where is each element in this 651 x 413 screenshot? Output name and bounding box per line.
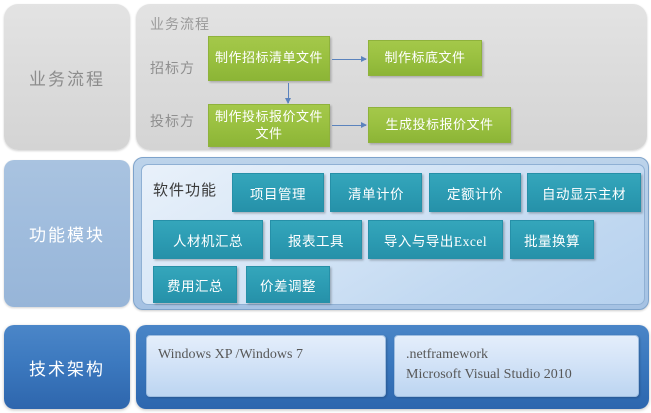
module-price-difference-adjustment[interactable]: 价差调整 (246, 266, 330, 303)
process-node-bid-quote-label: 制作投标报价文件文件 (209, 109, 329, 142)
functional-modules-panel: 软件功能 项目管理 清单计价 定额计价 自动显示主材 人材机汇总 报表工具 (133, 157, 649, 310)
module-auto-show-material[interactable]: 自动显示主材 (527, 173, 641, 212)
process-node-generate-quote[interactable]: 生成投标报价文件 (368, 107, 511, 143)
sidebar-item-business-process[interactable]: 业务流程 (4, 4, 130, 150)
process-node-generate-quote-label: 生成投标报价文件 (385, 117, 493, 133)
business-process-panel: 业务流程 招标方 投标方 制作招标清单文件 制作标底文件 制作投标报价文件文件 … (136, 4, 647, 150)
module-price-difference-adjustment-label: 价差调整 (260, 275, 316, 295)
module-labor-material-machine-summary[interactable]: 人材机汇总 (153, 220, 263, 259)
process-node-tender-list[interactable]: 制作招标清单文件 (208, 36, 330, 81)
module-bill-pricing[interactable]: 清单计价 (330, 173, 422, 212)
process-node-tender-list-label: 制作招标清单文件 (215, 50, 323, 66)
functional-modules-title: 软件功能 (153, 179, 217, 200)
process-node-bid-quote[interactable]: 制作投标报价文件文件 (208, 104, 330, 147)
module-cost-summary-label: 费用汇总 (167, 275, 223, 295)
arrow-bidquote-to-generate (332, 125, 366, 126)
module-quota-pricing[interactable]: 定额计价 (429, 173, 521, 212)
module-quota-pricing-label: 定额计价 (447, 183, 503, 203)
module-project-management[interactable]: 项目管理 (232, 173, 324, 212)
module-import-export-excel-label: 导入与导出Excel (384, 230, 487, 250)
module-auto-show-material-label: 自动显示主材 (542, 183, 626, 203)
module-labor-material-machine-summary-label: 人材机汇总 (173, 230, 243, 250)
sidebar-label-functional-modules: 功能模块 (29, 221, 105, 246)
sidebar-label-business-process: 业务流程 (29, 65, 105, 90)
tech-card-operating-system[interactable]: Windows XP /Windows 7 (146, 335, 386, 397)
module-project-management-label: 项目管理 (250, 183, 306, 203)
arrow-tenderlist-to-baseprice (332, 59, 366, 60)
sidebar-label-technical-architecture: 技术架构 (29, 355, 105, 380)
module-batch-conversion[interactable]: 批量换算 (510, 220, 594, 259)
module-report-tools[interactable]: 报表工具 (270, 220, 362, 259)
business-process-title: 业务流程 (150, 14, 210, 34)
tech-card-dev-line2: Microsoft Visual Studio 2010 (406, 365, 627, 385)
tech-card-os-line1: Windows XP /Windows 7 (158, 345, 374, 365)
row-label-tenderer: 招标方 (150, 58, 195, 78)
module-report-tools-label: 报表工具 (288, 230, 344, 250)
row-label-bidder: 投标方 (150, 111, 195, 131)
functional-modules-inner: 软件功能 项目管理 清单计价 定额计价 自动显示主材 人材机汇总 报表工具 (141, 164, 645, 305)
module-batch-conversion-label: 批量换算 (524, 230, 580, 250)
module-bill-pricing-label: 清单计价 (348, 183, 404, 203)
diagram-canvas: 业务流程 业务流程 招标方 投标方 制作招标清单文件 制作标底文件 制作投标报价… (0, 0, 651, 413)
sidebar-item-technical-architecture[interactable]: 技术架构 (4, 325, 130, 409)
module-import-export-excel[interactable]: 导入与导出Excel (368, 220, 503, 259)
tech-card-dev-platform[interactable]: .netframework Microsoft Visual Studio 20… (394, 335, 639, 397)
technical-architecture-panel: Windows XP /Windows 7 .netframework Micr… (136, 325, 649, 409)
arrow-tenderlist-to-bidquote (288, 83, 289, 103)
tech-card-dev-line1: .netframework (406, 345, 627, 365)
sidebar-item-functional-modules[interactable]: 功能模块 (4, 160, 130, 307)
process-node-base-price-label: 制作标底文件 (384, 50, 465, 66)
process-node-base-price[interactable]: 制作标底文件 (368, 40, 482, 76)
module-cost-summary[interactable]: 费用汇总 (153, 266, 237, 303)
